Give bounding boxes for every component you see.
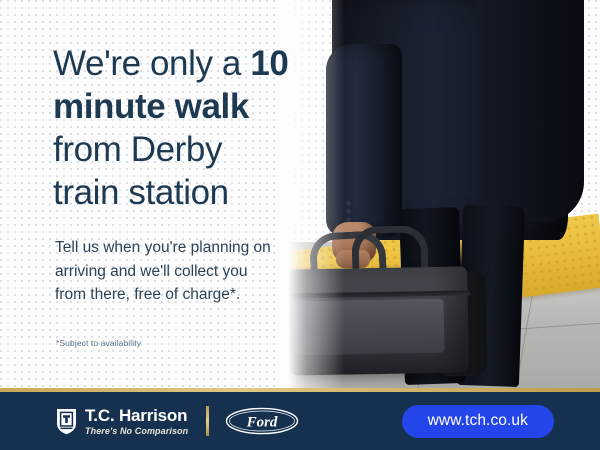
headline-line-1-prefix: We're only a	[53, 44, 250, 83]
ford-logo-icon: Ford	[225, 407, 299, 435]
headline-line-2: minute walk	[53, 87, 249, 126]
advertisement-banner: We're only a 10 minute walk from Derby t…	[0, 0, 600, 450]
brand-lockup: T.C. Harrison There's No Comparison	[56, 407, 188, 436]
headline-line-4: train station	[53, 173, 229, 212]
disclaimer-text: *Subject to availability	[56, 338, 141, 348]
brand-name: T.C. Harrison	[85, 407, 188, 424]
harrison-shield-icon	[56, 408, 77, 435]
briefcase-front-pocket	[294, 299, 445, 356]
ford-wordmark: Ford	[246, 415, 278, 431]
body-copy-line-3: from there, free of charge*.	[55, 286, 240, 303]
suit-jacket-side	[476, 0, 584, 222]
headline: We're only a 10 minute walk from Derby t…	[53, 42, 383, 214]
headline-line-3: from Derby	[53, 130, 222, 169]
footer-bar: T.C. Harrison There's No Comparison Ford…	[0, 392, 600, 450]
brand-text-block: T.C. Harrison There's No Comparison	[85, 407, 188, 436]
logo-divider	[206, 406, 209, 436]
body-copy-line-1: Tell us when you're planning on	[55, 239, 271, 256]
body-copy-line-2: arriving and we'll collect you	[55, 263, 248, 280]
brand-tagline: There's No Comparison	[85, 427, 188, 436]
website-url-button[interactable]: www.tch.co.uk	[402, 405, 554, 438]
headline-minutes-number: 10	[250, 44, 288, 83]
body-copy: Tell us when you're planning on arriving…	[55, 236, 310, 307]
